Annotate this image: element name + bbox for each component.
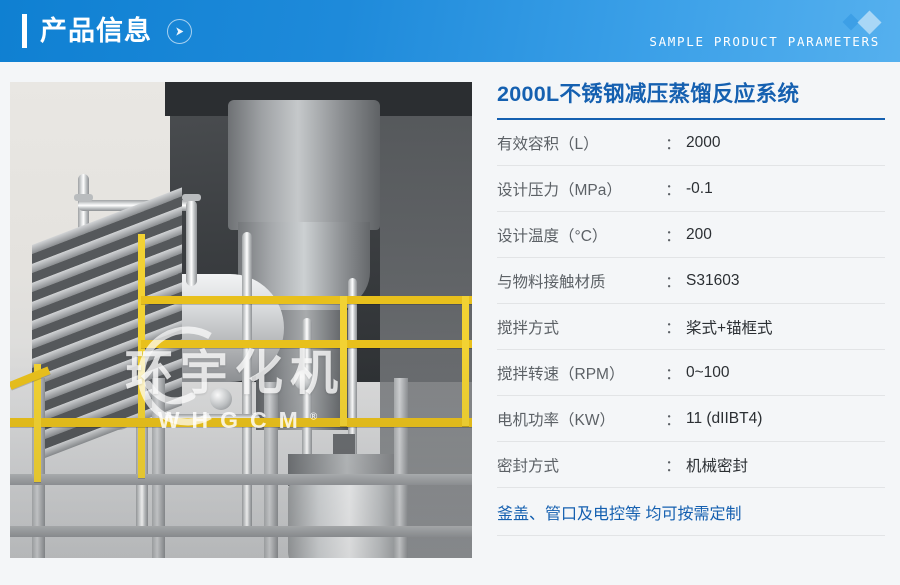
spec-row: 与物料接触材质：S31603	[497, 258, 885, 304]
photo-vignette	[10, 82, 472, 558]
product-info-page: 产品信息 SAMPLE PRODUCT PARAMETERS	[0, 0, 900, 585]
spec-separator: ：	[660, 224, 686, 246]
header-left-group: 产品信息	[22, 0, 192, 62]
spec-separator: ：	[660, 316, 686, 338]
spec-panel: 2000L不锈钢减压蒸馏反应系统 有效容积（L）：2000设计压力（MPa）：-…	[497, 82, 885, 536]
header-title: 产品信息	[40, 18, 152, 45]
spec-label: 搅拌转速（RPM）	[497, 362, 660, 384]
header-subtitle: SAMPLE PRODUCT PARAMETERS	[649, 34, 880, 49]
spec-row: 密封方式：机械密封	[497, 442, 885, 488]
header-accent-bar	[22, 14, 27, 48]
spec-label: 密封方式	[497, 454, 660, 476]
spec-row: 设计温度（°C）：200	[497, 212, 885, 258]
diamond-large-icon	[857, 10, 881, 34]
spec-row: 搅拌方式：桨式+锚框式	[497, 304, 885, 350]
spec-row: 搅拌转速（RPM）：0~100	[497, 350, 885, 396]
spec-label: 搅拌方式	[497, 316, 660, 338]
spec-value: -0.1	[686, 180, 713, 198]
spec-separator: ：	[660, 362, 686, 384]
spec-label: 设计压力（MPa）	[497, 178, 660, 200]
spec-label: 有效容积（L）	[497, 132, 660, 154]
spec-row: 电机功率（KW）：11 (dIIBT4)	[497, 396, 885, 442]
spec-value: 机械密封	[686, 454, 748, 476]
spec-label: 与物料接触材质	[497, 270, 660, 292]
spec-separator: ：	[660, 408, 686, 430]
spec-value: 2000	[686, 134, 720, 152]
spec-row: 设计压力（MPa）：-0.1	[497, 166, 885, 212]
spec-list: 有效容积（L）：2000设计压力（MPa）：-0.1设计温度（°C）：200与物…	[497, 120, 885, 488]
spec-separator: ：	[660, 454, 686, 476]
spec-value: 0~100	[686, 364, 730, 382]
spec-separator: ：	[660, 178, 686, 200]
header-right-group: SAMPLE PRODUCT PARAMETERS	[649, 0, 880, 62]
spec-value: 桨式+锚框式	[686, 316, 773, 338]
play-arrow-icon[interactable]	[167, 19, 192, 44]
diamond-decoration	[845, 14, 878, 31]
page-title: 2000L不锈钢减压蒸馏反应系统	[497, 82, 885, 118]
spec-label: 设计温度（°C）	[497, 224, 660, 246]
page-header: 产品信息 SAMPLE PRODUCT PARAMETERS	[0, 0, 900, 62]
spec-separator: ：	[660, 270, 686, 292]
spec-value: 200	[686, 226, 712, 244]
product-photo: 环宇化机 WHGCM®	[10, 82, 472, 558]
spec-row: 有效容积（L）：2000	[497, 120, 885, 166]
customization-note-row: 釜盖、管口及电控等 均可按需定制	[497, 488, 885, 536]
spec-value: S31603	[686, 272, 739, 290]
spec-label: 电机功率（KW）	[497, 408, 660, 430]
spec-value: 11 (dIIBT4)	[686, 410, 762, 428]
spec-separator: ：	[660, 132, 686, 154]
customization-note: 釜盖、管口及电控等 均可按需定制	[497, 500, 741, 524]
